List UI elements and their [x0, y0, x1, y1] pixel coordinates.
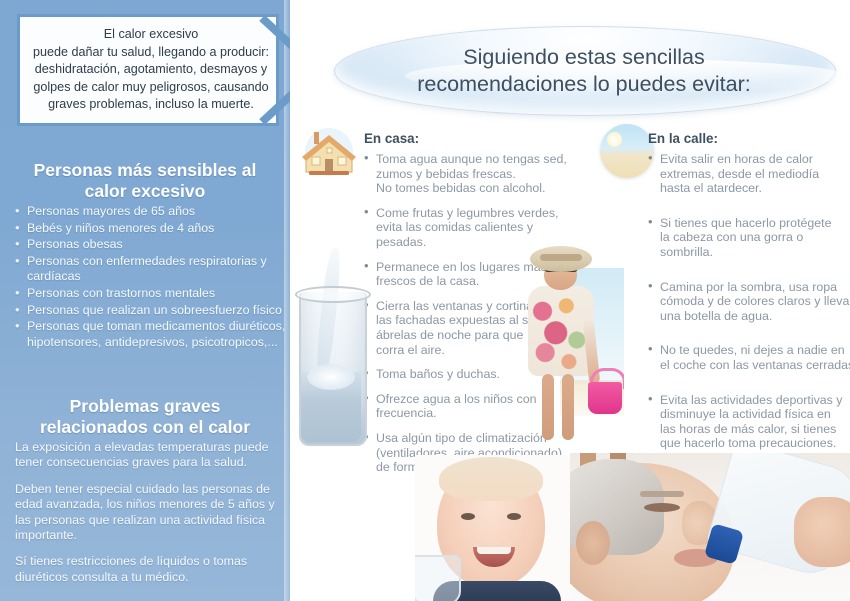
warning-line: golpes de calor muy peligrosos, causando	[28, 79, 274, 97]
item-line: Evita salir en horas de calor	[660, 152, 848, 167]
girl-leg	[542, 374, 554, 440]
item-line: extremas, desde el mediodía	[660, 167, 848, 182]
list-item: Personas con trastornos mentales	[14, 286, 286, 302]
beach-sun-icon	[600, 124, 654, 178]
warning-line: deshidratación, agotamiento, desmayos y	[28, 61, 274, 79]
sun-glow	[607, 132, 622, 147]
warning-line: graves problemas, incluso la muerte.	[28, 96, 274, 114]
item-line: Camina por la sombra, usa ropa	[660, 280, 848, 295]
item-line: cómoda y de colores claros y lleva	[660, 294, 848, 309]
man-eyebrow	[640, 491, 684, 497]
heading-line: relacionados con el calor	[8, 417, 282, 438]
item-line: la cabeza con una gorra o	[660, 230, 848, 245]
item-line: Toma agua aunque no tengas sed,	[376, 152, 576, 167]
baby-teeth	[477, 547, 511, 554]
baby-hair	[439, 457, 543, 501]
heading-line: Personas más sensibles al	[8, 160, 282, 181]
item-line: Come frutas y legumbres verdes,	[376, 206, 576, 221]
serious-problems-heading: Problemas graves relacionados con el cal…	[8, 396, 282, 438]
list-item: Personas mayores de 65 años	[14, 204, 286, 220]
warning-callout-text: El calor excesivo puede dañar tu salud, …	[28, 26, 274, 114]
list-item: Evita las actividades deportivas y dismi…	[648, 393, 848, 451]
helping-hand	[794, 497, 850, 567]
item-line: No te quedes, ni dejes a nadie en	[660, 343, 848, 358]
warning-line: El calor excesivo	[28, 26, 274, 44]
en-casa-heading: En casa:	[364, 131, 419, 146]
list-item: Personas que realizan un sobreesfuerzo f…	[14, 303, 286, 319]
baby-eye	[507, 513, 521, 520]
heading-line: Problemas graves	[8, 396, 282, 417]
list-item: Evita salir en horas de calor extremas, …	[648, 152, 848, 196]
en-la-calle-list: Evita salir en horas de calor extremas, …	[648, 152, 848, 471]
house-icon	[300, 126, 358, 178]
list-item: Si tienes que hacerlo protégete la cabez…	[648, 216, 848, 260]
item-line: que hacerlo toma precauciones.	[660, 436, 848, 451]
man-ear	[576, 521, 610, 565]
baby-eye	[461, 513, 475, 520]
paragraph: Sí tienes restricciones de líquidos o to…	[15, 554, 287, 585]
water-splash	[307, 364, 355, 390]
warning-line: puede dañar tu salud, llegando a produci…	[28, 44, 274, 62]
item-line: sombrilla.	[660, 245, 848, 260]
elderly-man-drinking-photo	[570, 453, 850, 601]
title-line: Siguiendo estas sencillas	[364, 44, 804, 71]
list-item: No te quedes, ni dejes a nadie en el coc…	[648, 343, 848, 372]
man-eye	[644, 503, 680, 512]
girl-leg	[562, 374, 574, 440]
list-item: Personas con enfermedades respiratorias …	[14, 254, 286, 285]
list-item: Bebés y niños menores de 4 años	[14, 221, 286, 237]
item-line: las horas de más calor, si tienes	[660, 422, 848, 437]
item-line: una botella de agua.	[660, 309, 848, 324]
left-info-panel: El calor excesivo puede dañar tu salud, …	[0, 0, 290, 601]
sensitive-people-heading: Personas más sensibles al calor excesivo	[8, 160, 282, 202]
list-item: Toma agua aunque no tengas sed, zumos y …	[364, 152, 576, 196]
item-line: No tomes bebidas con alcohol.	[376, 181, 576, 196]
item-line: Evita las actividades deportivas y	[660, 393, 848, 408]
hat-band	[540, 254, 582, 261]
item-line: Si tienes que hacerlo protégete	[660, 216, 848, 231]
item-line: el coche con las ventanas cerradas.	[660, 358, 848, 373]
item-line: hasta el atardecer.	[660, 181, 848, 196]
sensitive-people-list: Personas mayores de 65 años Bebés y niño…	[14, 204, 286, 351]
item-line: disminuye la actividad física en	[660, 407, 848, 422]
pink-bucket	[588, 382, 622, 414]
warning-callout-box: El calor excesivo puede dañar tu salud, …	[17, 14, 279, 126]
heat-safety-infographic: El calor excesivo puede dañar tu salud, …	[0, 0, 850, 601]
paragraph: La exposición a elevadas temperaturas pu…	[15, 440, 287, 471]
list-item: Camina por la sombra, usa ropa cómoda y …	[648, 280, 848, 324]
page-title: Siguiendo estas sencillas recomendacione…	[364, 44, 804, 98]
list-item: Personas obesas	[14, 237, 286, 253]
warning-callout: El calor excesivo puede dañar tu salud, …	[17, 14, 279, 126]
baby-photo	[415, 455, 575, 601]
serious-problems-text: La exposición a elevadas temperaturas pu…	[15, 440, 287, 596]
title-line: recomendaciones lo puedes evitar:	[364, 71, 804, 98]
heading-line: calor excesivo	[8, 181, 282, 202]
glass-of-water-photo	[283, 240, 375, 450]
baby-holding-glass	[415, 555, 461, 601]
girl-on-beach-photo	[498, 228, 624, 460]
list-item: Personas que toman medicamentos diurétic…	[14, 319, 286, 350]
glass-rim	[295, 286, 371, 303]
item-line: zumos y bebidas frescas.	[376, 167, 576, 182]
paragraph: Deben tener especial cuidado las persona…	[15, 482, 287, 544]
en-la-calle-heading: En la calle:	[648, 131, 718, 146]
